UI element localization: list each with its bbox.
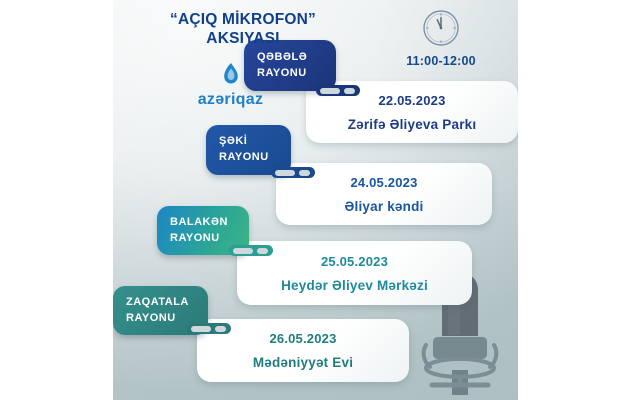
- brand-name: azəriqaz: [198, 91, 264, 108]
- time-block: 11:00-12:00: [381, 8, 501, 68]
- clock-icon: [381, 8, 501, 48]
- event-place: Əliyar kəndi: [345, 199, 424, 214]
- connector-plug: [316, 85, 360, 96]
- event-place: Zərifə Əliyeva Parkı: [348, 117, 477, 132]
- connector-plug: [187, 323, 231, 334]
- brand-logo: azəriqaz: [143, 62, 318, 109]
- page-title: “AÇIQ MİKROFON” AKSIYASI: [113, 10, 373, 49]
- time-range-label: 11:00-12:00: [381, 54, 501, 68]
- event-date: 26.05.2023: [269, 331, 336, 346]
- region-name: ZAQATALA: [113, 295, 208, 311]
- event-place: Heydər Əliyev Mərkəzi: [281, 278, 428, 293]
- event-date: 24.05.2023: [350, 175, 417, 190]
- flame-icon: [220, 62, 242, 88]
- event-date: 22.05.2023: [378, 93, 445, 108]
- page-title-line-2: AKSIYASI: [113, 29, 373, 48]
- region-suffix: RAYONU: [206, 150, 291, 166]
- page-root: “AÇIQ MİKROFON” AKSIYASI azəriqaz: [0, 0, 637, 400]
- event-date: 25.05.2023: [321, 254, 388, 269]
- connector-plug: [271, 167, 315, 178]
- campaign-poster: “AÇIQ MİKROFON” AKSIYASI azəriqaz: [113, 0, 518, 400]
- page-title-line-1: “AÇIQ MİKROFON”: [113, 10, 373, 29]
- region-name: BALAKƏN: [157, 215, 249, 231]
- region-name: ŞƏKİ: [206, 134, 291, 150]
- connector-plug: [229, 245, 273, 256]
- event-place: Mədəniyyət Evi: [253, 355, 353, 370]
